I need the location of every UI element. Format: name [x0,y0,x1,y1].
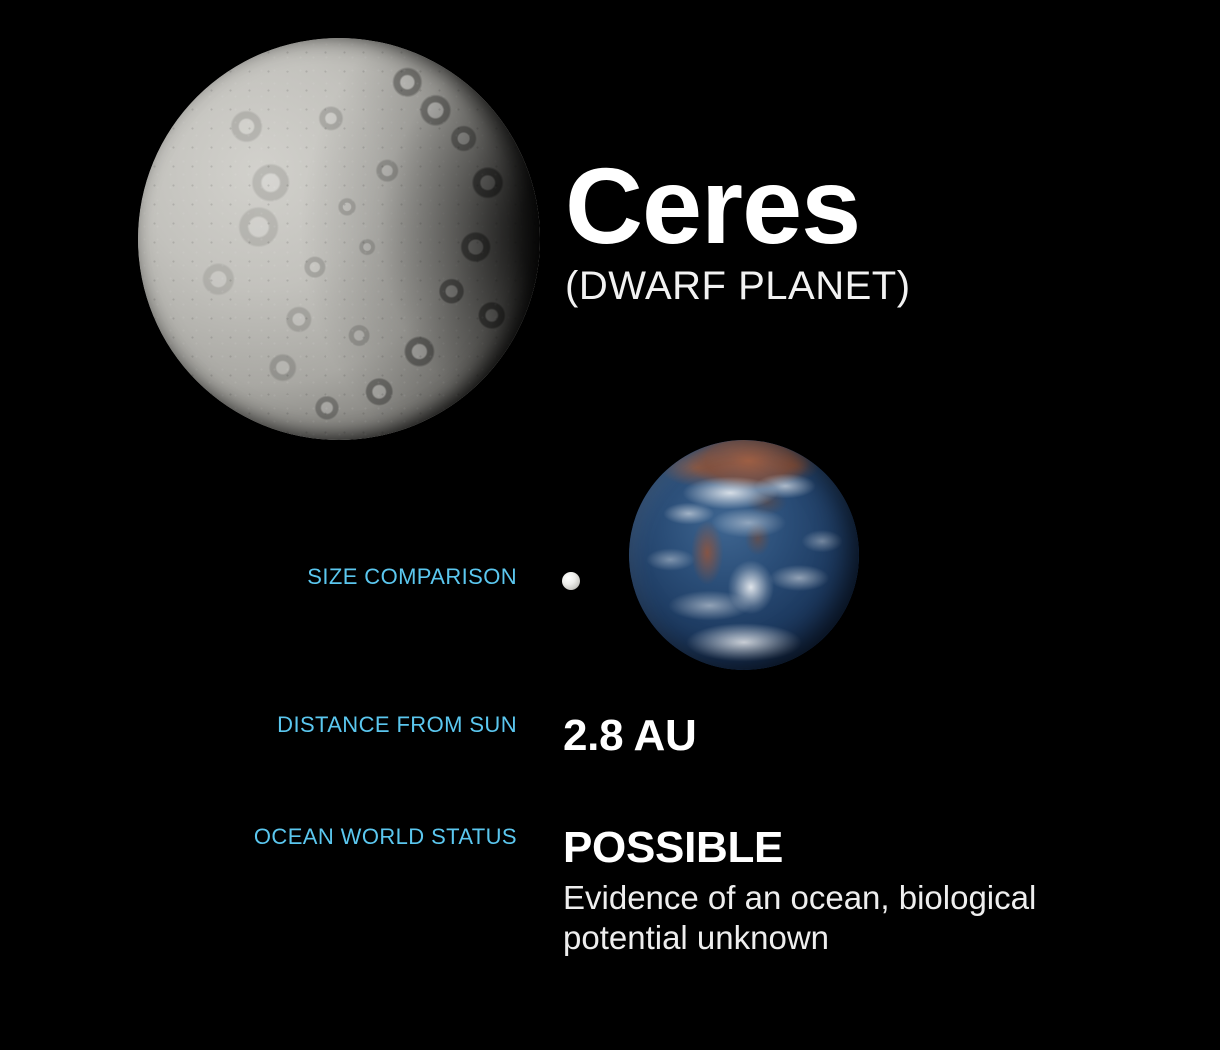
fact-value-distance-from-sun: 2.8 AU [563,714,697,758]
fact-label-ocean-world-status: OCEAN WORLD STATUS [190,826,517,848]
fact-label-size-comparison: SIZE COMPARISON [190,566,517,588]
fact-value-wrap-ocean: POSSIBLE Evidence of an ocean, biologica… [563,826,1163,959]
page-subtitle: (DWARF PLANET) [565,266,1165,306]
fact-label-distance-from-sun: DISTANCE FROM SUN [190,714,517,736]
size-comparison-visual [540,430,900,680]
ceres-limb-shading [138,38,540,440]
fact-value-wrap-distance: 2.8 AU [563,714,697,758]
fact-row-size-comparison: SIZE COMPARISON [190,566,517,588]
ceres-size-dot [562,572,580,590]
title-block: Ceres (DWARF PLANET) [565,152,1165,306]
fact-row-ocean-world-status: OCEAN WORLD STATUS POSSIBLE Evidence of … [190,826,1163,959]
fact-row-distance-from-sun: DISTANCE FROM SUN 2.8 AU [190,714,697,758]
earth-globe [629,440,859,670]
page-title: Ceres [565,152,1165,260]
ceres-fact-card: Ceres (DWARF PLANET) SIZE COMPARISON DIS… [0,0,1220,1050]
fact-value-ocean-world-status: POSSIBLE [563,826,1163,870]
earth-shading-layer [629,440,859,670]
ceres-hero-image [138,38,540,440]
fact-note-ocean-world-status: Evidence of an ocean, biological potenti… [563,878,1163,959]
